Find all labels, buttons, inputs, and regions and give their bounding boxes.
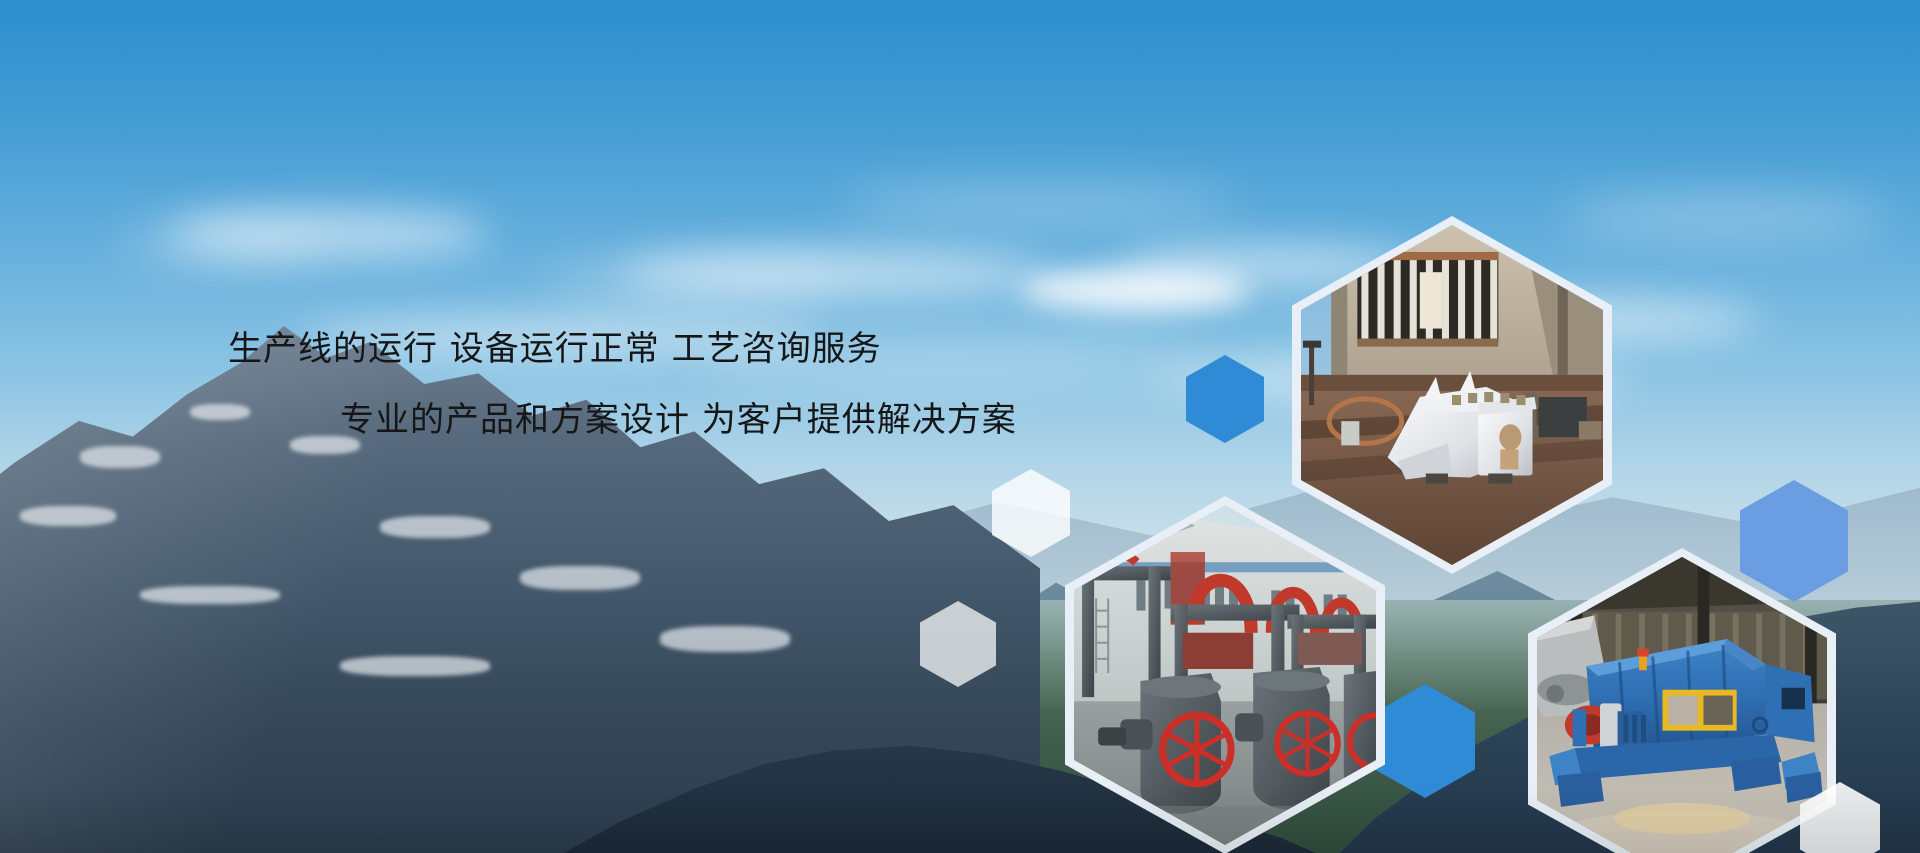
cloud — [840, 190, 1240, 218]
blue-hexagon-accent — [1186, 355, 1264, 443]
snow-patch — [340, 656, 490, 676]
cloud — [120, 228, 320, 258]
cloud — [540, 268, 840, 298]
snow-patch — [80, 446, 160, 468]
snow-patch — [520, 566, 640, 590]
industrial-ladle-machine-photo[interactable] — [1292, 216, 1612, 574]
cloud — [1560, 200, 1890, 234]
photo-inner — [1301, 225, 1603, 565]
cloud — [1020, 268, 1250, 312]
snow-patch — [380, 516, 490, 538]
ladle-machine-illustration — [1301, 225, 1603, 565]
cloud — [170, 210, 490, 258]
shredder-illustration — [1537, 557, 1827, 853]
hero-banner: 生产线的运行 设备运行正常 工艺咨询服务 专业的产品和方案设计 为客户提供解决方… — [0, 0, 1920, 853]
headline-line-2: 专业的产品和方案设计 为客户提供解决方案 — [0, 395, 1080, 446]
snow-patch — [20, 506, 116, 526]
light-blue-hexagon-accent — [1740, 480, 1848, 602]
snow-patch — [140, 586, 280, 604]
snow-patch — [660, 626, 790, 652]
headline-line-1: 生产线的运行 设备运行正常 工艺咨询服务 — [0, 324, 1080, 375]
photo-inner — [1537, 557, 1827, 853]
headline-block: 生产线的运行 设备运行正常 工艺咨询服务 专业的产品和方案设计 为客户提供解决方… — [0, 324, 1080, 446]
cloud — [620, 250, 1050, 296]
mixer-tanks-illustration — [1074, 505, 1376, 845]
photo-inner — [1074, 505, 1376, 845]
